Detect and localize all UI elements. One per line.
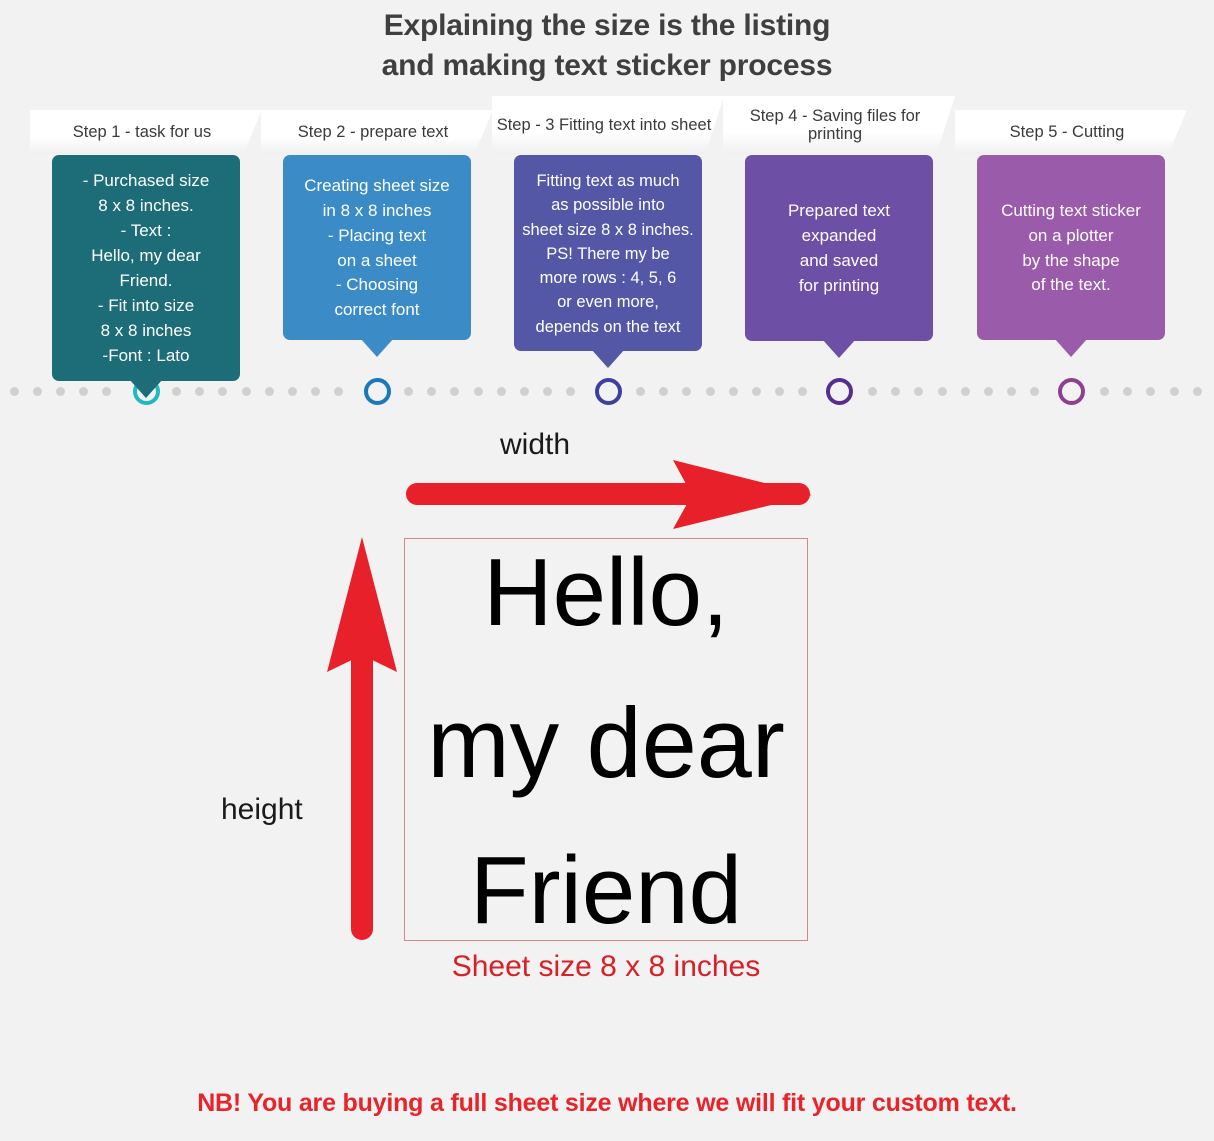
step-5-tail	[1054, 338, 1088, 357]
step-3-body-text: Fitting text as much as possible into sh…	[522, 169, 694, 339]
timeline-dot	[914, 387, 923, 396]
step-1-header: Step 1 - task for us	[30, 110, 262, 154]
timeline-dot	[1030, 387, 1039, 396]
timeline-dot	[497, 387, 506, 396]
timeline-dot	[450, 387, 459, 396]
timeline-dot	[682, 387, 691, 396]
timeline-dot	[752, 387, 761, 396]
step-2-header: Step 2 - prepare text	[261, 110, 493, 154]
timeline-dot	[218, 387, 227, 396]
step-2-body: Creating sheet size in 8 x 8 inches - Pl…	[283, 155, 471, 340]
timeline-dot	[938, 387, 947, 396]
timeline-dot	[288, 387, 297, 396]
timeline-dot	[961, 387, 970, 396]
timeline-dot	[311, 387, 320, 396]
timeline-dot	[242, 387, 251, 396]
timeline-dot	[1100, 387, 1109, 396]
step-card-1[interactable]: Step 1 - task for us - Purchased size 8 …	[52, 110, 240, 381]
timeline-dot	[775, 387, 784, 396]
timeline-dot	[474, 387, 483, 396]
timeline-dot	[1146, 387, 1155, 396]
timeline-dot	[1170, 387, 1179, 396]
timeline-dot	[102, 387, 111, 396]
timeline-dot	[636, 387, 645, 396]
sheet-size-caption: Sheet size 8 x 8 inches	[404, 950, 808, 984]
nb-note: NB! You are buying a full sheet size whe…	[0, 1089, 1214, 1118]
timeline-dot	[543, 387, 552, 396]
step-3-tail	[591, 349, 625, 368]
height-arrow-icon	[327, 537, 397, 940]
width-arrow-icon	[406, 460, 812, 529]
step-4-header: Step 4 - Saving files for printing	[723, 96, 955, 154]
timeline-dot	[659, 387, 668, 396]
timeline-dot	[404, 387, 413, 396]
timeline-dot	[56, 387, 65, 396]
timeline-dot	[172, 387, 181, 396]
timeline-dot	[33, 387, 42, 396]
timeline-dot	[79, 387, 88, 396]
process-steps: Step 1 - task for us - Purchased size 8 …	[0, 0, 1214, 420]
timeline-marker-2[interactable]	[364, 378, 391, 405]
timeline-dot	[798, 387, 807, 396]
step-card-4[interactable]: Step 4 - Saving files for printing Prepa…	[745, 110, 933, 341]
timeline-dot	[334, 387, 343, 396]
step-card-5[interactable]: Step 5 - Cutting Cutting text sticker on…	[977, 110, 1165, 340]
step-1-tail	[129, 379, 163, 398]
step-card-3[interactable]: Step - 3 Fitting text into sheet Fitting…	[514, 110, 702, 351]
timeline-marker-4[interactable]	[826, 378, 853, 405]
timeline-dot	[984, 387, 993, 396]
timeline-dot	[566, 387, 575, 396]
timeline-dot	[868, 387, 877, 396]
sheet-preview-text: Hello, my dear Friend	[404, 538, 808, 941]
sheet-text-line-2: my dear	[427, 692, 785, 794]
width-label: width	[500, 428, 570, 462]
step-3-body: Fitting text as much as possible into sh…	[514, 155, 702, 351]
step-1-body-text: - Purchased size 8 x 8 inches. - Text : …	[60, 169, 232, 369]
step-3-header: Step - 3 Fitting text into sheet	[492, 96, 724, 154]
timeline-marker-3[interactable]	[595, 378, 622, 405]
step-card-2[interactable]: Step 2 - prepare text Creating sheet siz…	[283, 110, 471, 340]
step-5-body: Cutting text sticker on a plotter by the…	[977, 155, 1165, 340]
step-4-body-text: Prepared text expanded and saved for pri…	[753, 199, 925, 299]
step-5-body-text: Cutting text sticker on a plotter by the…	[985, 199, 1157, 299]
height-label: height	[221, 793, 303, 827]
timeline-dot	[265, 387, 274, 396]
step-4-body: Prepared text expanded and saved for pri…	[745, 155, 933, 341]
timeline-dot	[10, 387, 19, 396]
step-2-body-text: Creating sheet size in 8 x 8 inches - Pl…	[291, 174, 463, 324]
sheet-outline	[404, 538, 808, 941]
step-4-tail	[822, 339, 856, 358]
timeline-dot	[706, 387, 715, 396]
timeline-dot	[1007, 387, 1016, 396]
step-2-tail	[360, 338, 394, 357]
timeline-dot	[195, 387, 204, 396]
step-1-body: - Purchased size 8 x 8 inches. - Text : …	[52, 155, 240, 381]
sheet-text-line-1: Hello,	[483, 544, 728, 643]
timeline-dot	[1123, 387, 1132, 396]
timeline-track	[0, 384, 1214, 398]
step-5-header: Step 5 - Cutting	[955, 110, 1187, 154]
timeline-dot	[729, 387, 738, 396]
timeline-marker-5[interactable]	[1058, 378, 1085, 405]
timeline-dot	[520, 387, 529, 396]
timeline-dot	[427, 387, 436, 396]
sheet-text-line-3: Friend	[470, 842, 742, 941]
timeline-dot	[891, 387, 900, 396]
timeline-dot	[1193, 387, 1202, 396]
